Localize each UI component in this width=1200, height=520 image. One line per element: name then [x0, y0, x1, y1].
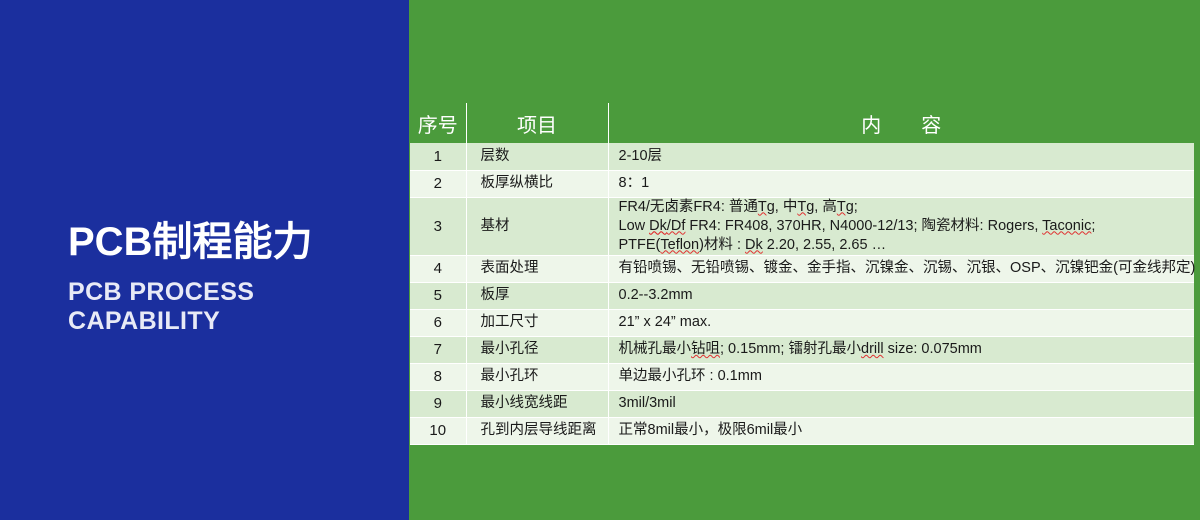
table-row: 4表面处理有铅喷锡、无铅喷锡、镀金、金手指、沉镍金、沉锡、沉银、OSP、沉镍钯金… — [410, 255, 1194, 282]
column-header-content: 内 容 — [608, 103, 1194, 143]
slide-canvas: PCB制程能力 PCB PROCESS CAPABILITY 序号 项目 内 容… — [0, 0, 1200, 520]
cell-no: 4 — [410, 255, 466, 282]
table-row: 3基材FR4/无卤素FR4: 普通Tg, 中Tg, 高Tg;Low Dk/Df … — [410, 197, 1194, 255]
cell-item: 层数 — [466, 143, 608, 170]
cell-item: 孔到内层导线距离 — [466, 417, 608, 444]
table-row: 10孔到内层导线距离正常8mil最小，极限6mil最小 — [410, 417, 1194, 444]
table-body: 1层数2-10层2板厚纵横比8：13基材FR4/无卤素FR4: 普通Tg, 中T… — [410, 143, 1194, 444]
cell-no: 10 — [410, 417, 466, 444]
cell-content: 21” x 24” max. — [608, 309, 1194, 336]
cell-content: 8：1 — [608, 170, 1194, 197]
table-header: 序号 项目 内 容 — [410, 103, 1194, 143]
cell-no: 9 — [410, 390, 466, 417]
cell-no: 7 — [410, 336, 466, 363]
cell-item: 表面处理 — [466, 255, 608, 282]
table-row: 2板厚纵横比8：1 — [410, 170, 1194, 197]
cell-no: 5 — [410, 282, 466, 309]
cell-no: 1 — [410, 143, 466, 170]
cell-content: FR4/无卤素FR4: 普通Tg, 中Tg, 高Tg;Low Dk/Df FR4… — [608, 197, 1194, 255]
cell-content: 正常8mil最小，极限6mil最小 — [608, 417, 1194, 444]
cell-item: 最小孔径 — [466, 336, 608, 363]
table-row: 9最小线宽线距3mil/3mil — [410, 390, 1194, 417]
left-blue-panel: PCB制程能力 PCB PROCESS CAPABILITY — [0, 0, 409, 520]
column-header-no: 序号 — [410, 103, 466, 143]
column-header-item: 项目 — [466, 103, 608, 143]
cell-item: 最小线宽线距 — [466, 390, 608, 417]
table-row: 6加工尺寸21” x 24” max. — [410, 309, 1194, 336]
cell-content: 有铅喷锡、无铅喷锡、镀金、金手指、沉镍金、沉锡、沉银、OSP、沉镍钯金(可金线邦… — [608, 255, 1194, 282]
table-header-row: 序号 项目 内 容 — [410, 103, 1194, 143]
pcb-capability-table: 序号 项目 内 容 1层数2-10层2板厚纵横比8：13基材FR4/无卤素FR4… — [410, 103, 1194, 445]
cell-item: 板厚纵横比 — [466, 170, 608, 197]
cell-item: 板厚 — [466, 282, 608, 309]
page-title: PCB制程能力 — [68, 218, 398, 266]
table-row: 7最小孔径机械孔最小钻咀; 0.15mm; 镭射孔最小drill size: 0… — [410, 336, 1194, 363]
cell-item: 最小孔环 — [466, 363, 608, 390]
table-row: 8最小孔环单边最小孔环 : 0.1mm — [410, 363, 1194, 390]
cell-item: 基材 — [466, 197, 608, 255]
cell-content: 机械孔最小钻咀; 0.15mm; 镭射孔最小drill size: 0.075m… — [608, 336, 1194, 363]
cell-no: 8 — [410, 363, 466, 390]
cell-content: 0.2--3.2mm — [608, 282, 1194, 309]
table-row: 1层数2-10层 — [410, 143, 1194, 170]
cell-no: 6 — [410, 309, 466, 336]
title-block: PCB制程能力 PCB PROCESS CAPABILITY — [68, 218, 398, 336]
cell-item: 加工尺寸 — [466, 309, 608, 336]
cell-content: 单边最小孔环 : 0.1mm — [608, 363, 1194, 390]
page-subtitle: PCB PROCESS CAPABILITY — [68, 278, 398, 336]
table-row: 5板厚0.2--3.2mm — [410, 282, 1194, 309]
cell-no: 2 — [410, 170, 466, 197]
cell-content: 3mil/3mil — [608, 390, 1194, 417]
cell-content: 2-10层 — [608, 143, 1194, 170]
cell-no: 3 — [410, 197, 466, 255]
